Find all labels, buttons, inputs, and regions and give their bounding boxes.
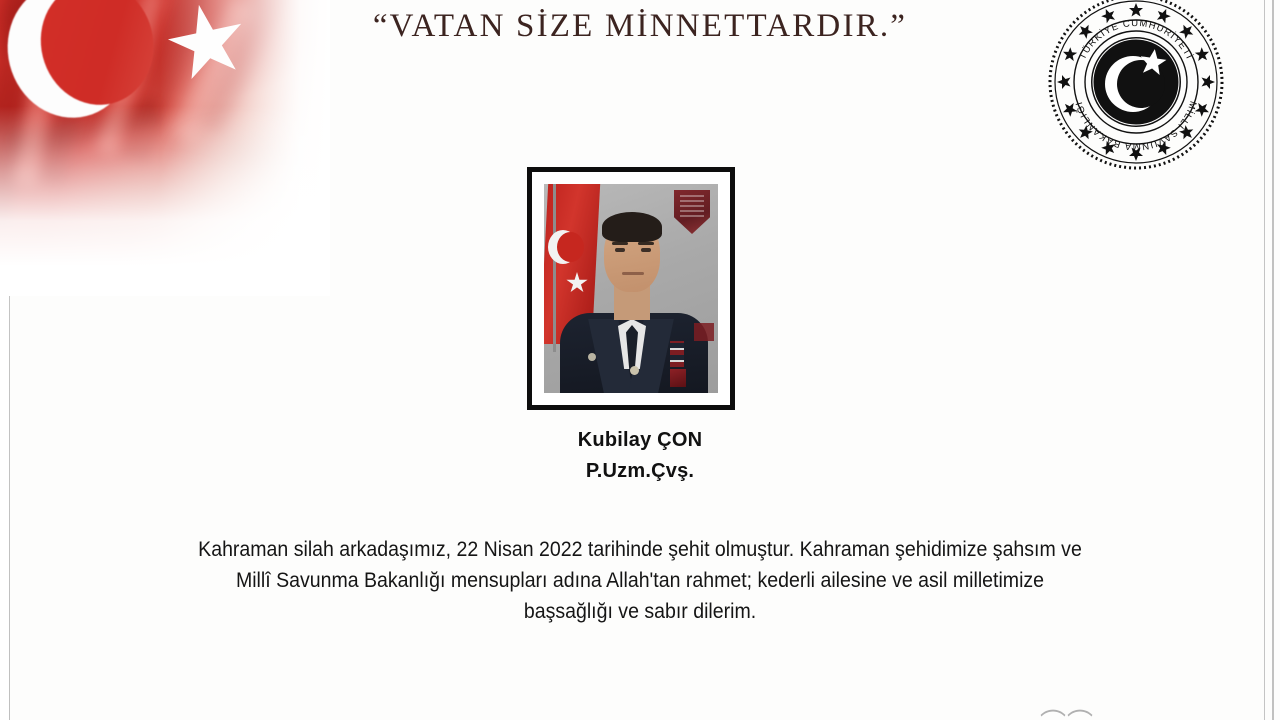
memorial-notice-page: “VATAN SİZE MİNNETTARDIR.”	[0, 0, 1280, 720]
medal-badge	[670, 369, 686, 387]
signature-text: ⌒⌒	[1040, 703, 1210, 720]
medal-ribbon	[670, 341, 684, 367]
subject-brow-right	[638, 242, 654, 245]
signature-fragment: ⌒⌒	[1040, 703, 1210, 720]
subject-mouth	[622, 272, 644, 275]
subject-brow-left	[612, 242, 628, 245]
uniform-button	[630, 366, 639, 375]
condolence-message: Kahraman silah arkadaşımız, 22 Nisan 202…	[91, 534, 1188, 627]
page-edge-right-shadow	[1272, 0, 1274, 720]
shoulder-patch	[694, 323, 714, 341]
portrait-frame	[527, 167, 735, 410]
soldier-portrait-photo	[544, 184, 718, 393]
message-line-1: Kahraman silah arkadaşımız, 22 Nisan 202…	[91, 534, 1188, 565]
identity-block: Kubilay ÇON P.Uzm.Çvş.	[0, 425, 1280, 487]
ministry-emblem-icon: TÜRKİYE CUMHURİYETİ MİLLÎ SAVUNMA BAKANL…	[1028, 0, 1244, 190]
message-line-2: Millî Savunma Bakanlığı mensupları adına…	[91, 565, 1188, 596]
page-edge-right-line	[1264, 0, 1265, 720]
subject-hair	[602, 212, 662, 242]
message-line-3: başsağlığı ve sabır dilerim.	[91, 596, 1188, 627]
flag-pole	[553, 184, 556, 352]
uniform-button	[588, 353, 596, 361]
subject-eye-left	[615, 248, 625, 252]
soldier-rank: P.Uzm.Çvş.	[0, 456, 1280, 487]
subject-eye-right	[641, 248, 651, 252]
unit-insignia-patch	[674, 190, 710, 234]
crescent-icon	[548, 230, 578, 264]
soldier-name: Kubilay ÇON	[0, 425, 1280, 456]
